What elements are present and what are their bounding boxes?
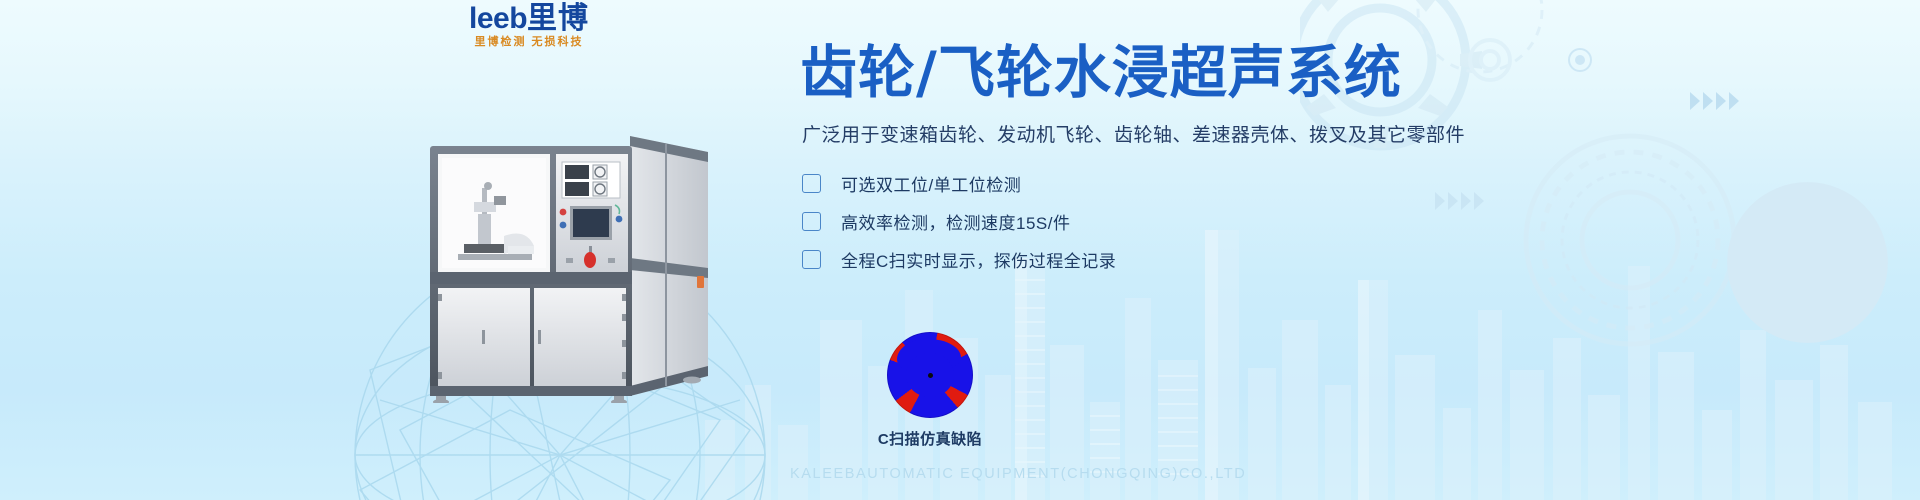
page-title: 齿轮/飞轮水浸超声系统	[800, 44, 1850, 104]
cscan-center-dot	[928, 373, 933, 378]
product-banner: leeb里博 里博检测 无损科技	[0, 0, 1920, 500]
logo-latin: leeb	[469, 2, 527, 35]
cscan-defect-image	[887, 332, 973, 418]
logo-wordmark: leeb里博	[434, 4, 624, 34]
logo-tagline: 里博检测 无损科技	[434, 37, 624, 48]
cscan-sample: C扫描仿真缺陷	[850, 332, 1010, 449]
feature-label: 可选双工位/单工位检测	[841, 171, 1021, 196]
machine-photo	[408, 118, 714, 403]
brand-logo[interactable]: leeb里博 里博检测 无损科技	[434, 4, 624, 50]
feature-list: 可选双工位/单工位检测 高效率检测，检测速度15S/件 全程C扫实时显示，探伤过…	[802, 165, 1850, 279]
checkbox-icon[interactable]	[802, 174, 821, 193]
list-item: 高效率检测，检测速度15S/件	[802, 203, 1850, 241]
hero-content: 齿轮/飞轮水浸超声系统 广泛用于变速箱齿轮、发动机飞轮、齿轮轴、差速器壳体、拨叉…	[800, 44, 1850, 279]
checkbox-icon[interactable]	[802, 250, 821, 269]
list-item: 全程C扫实时显示，探伤过程全记录	[802, 241, 1850, 279]
feature-label: 全程C扫实时显示，探伤过程全记录	[841, 247, 1116, 272]
cscan-caption: C扫描仿真缺陷	[850, 428, 1010, 449]
hero-subtitle: 广泛用于变速箱齿轮、发动机飞轮、齿轮轴、差速器壳体、拨叉及其它零部件	[802, 120, 1850, 147]
feature-label: 高效率检测，检测速度15S/件	[841, 209, 1070, 234]
checkbox-icon[interactable]	[802, 212, 821, 231]
logo-chinese: 里博	[527, 2, 589, 35]
company-watermark: KALEEBAUTOMATIC EQUIPMENT(CHONGQING)CO.,…	[790, 466, 1246, 482]
list-item: 可选双工位/单工位检测	[802, 165, 1850, 203]
